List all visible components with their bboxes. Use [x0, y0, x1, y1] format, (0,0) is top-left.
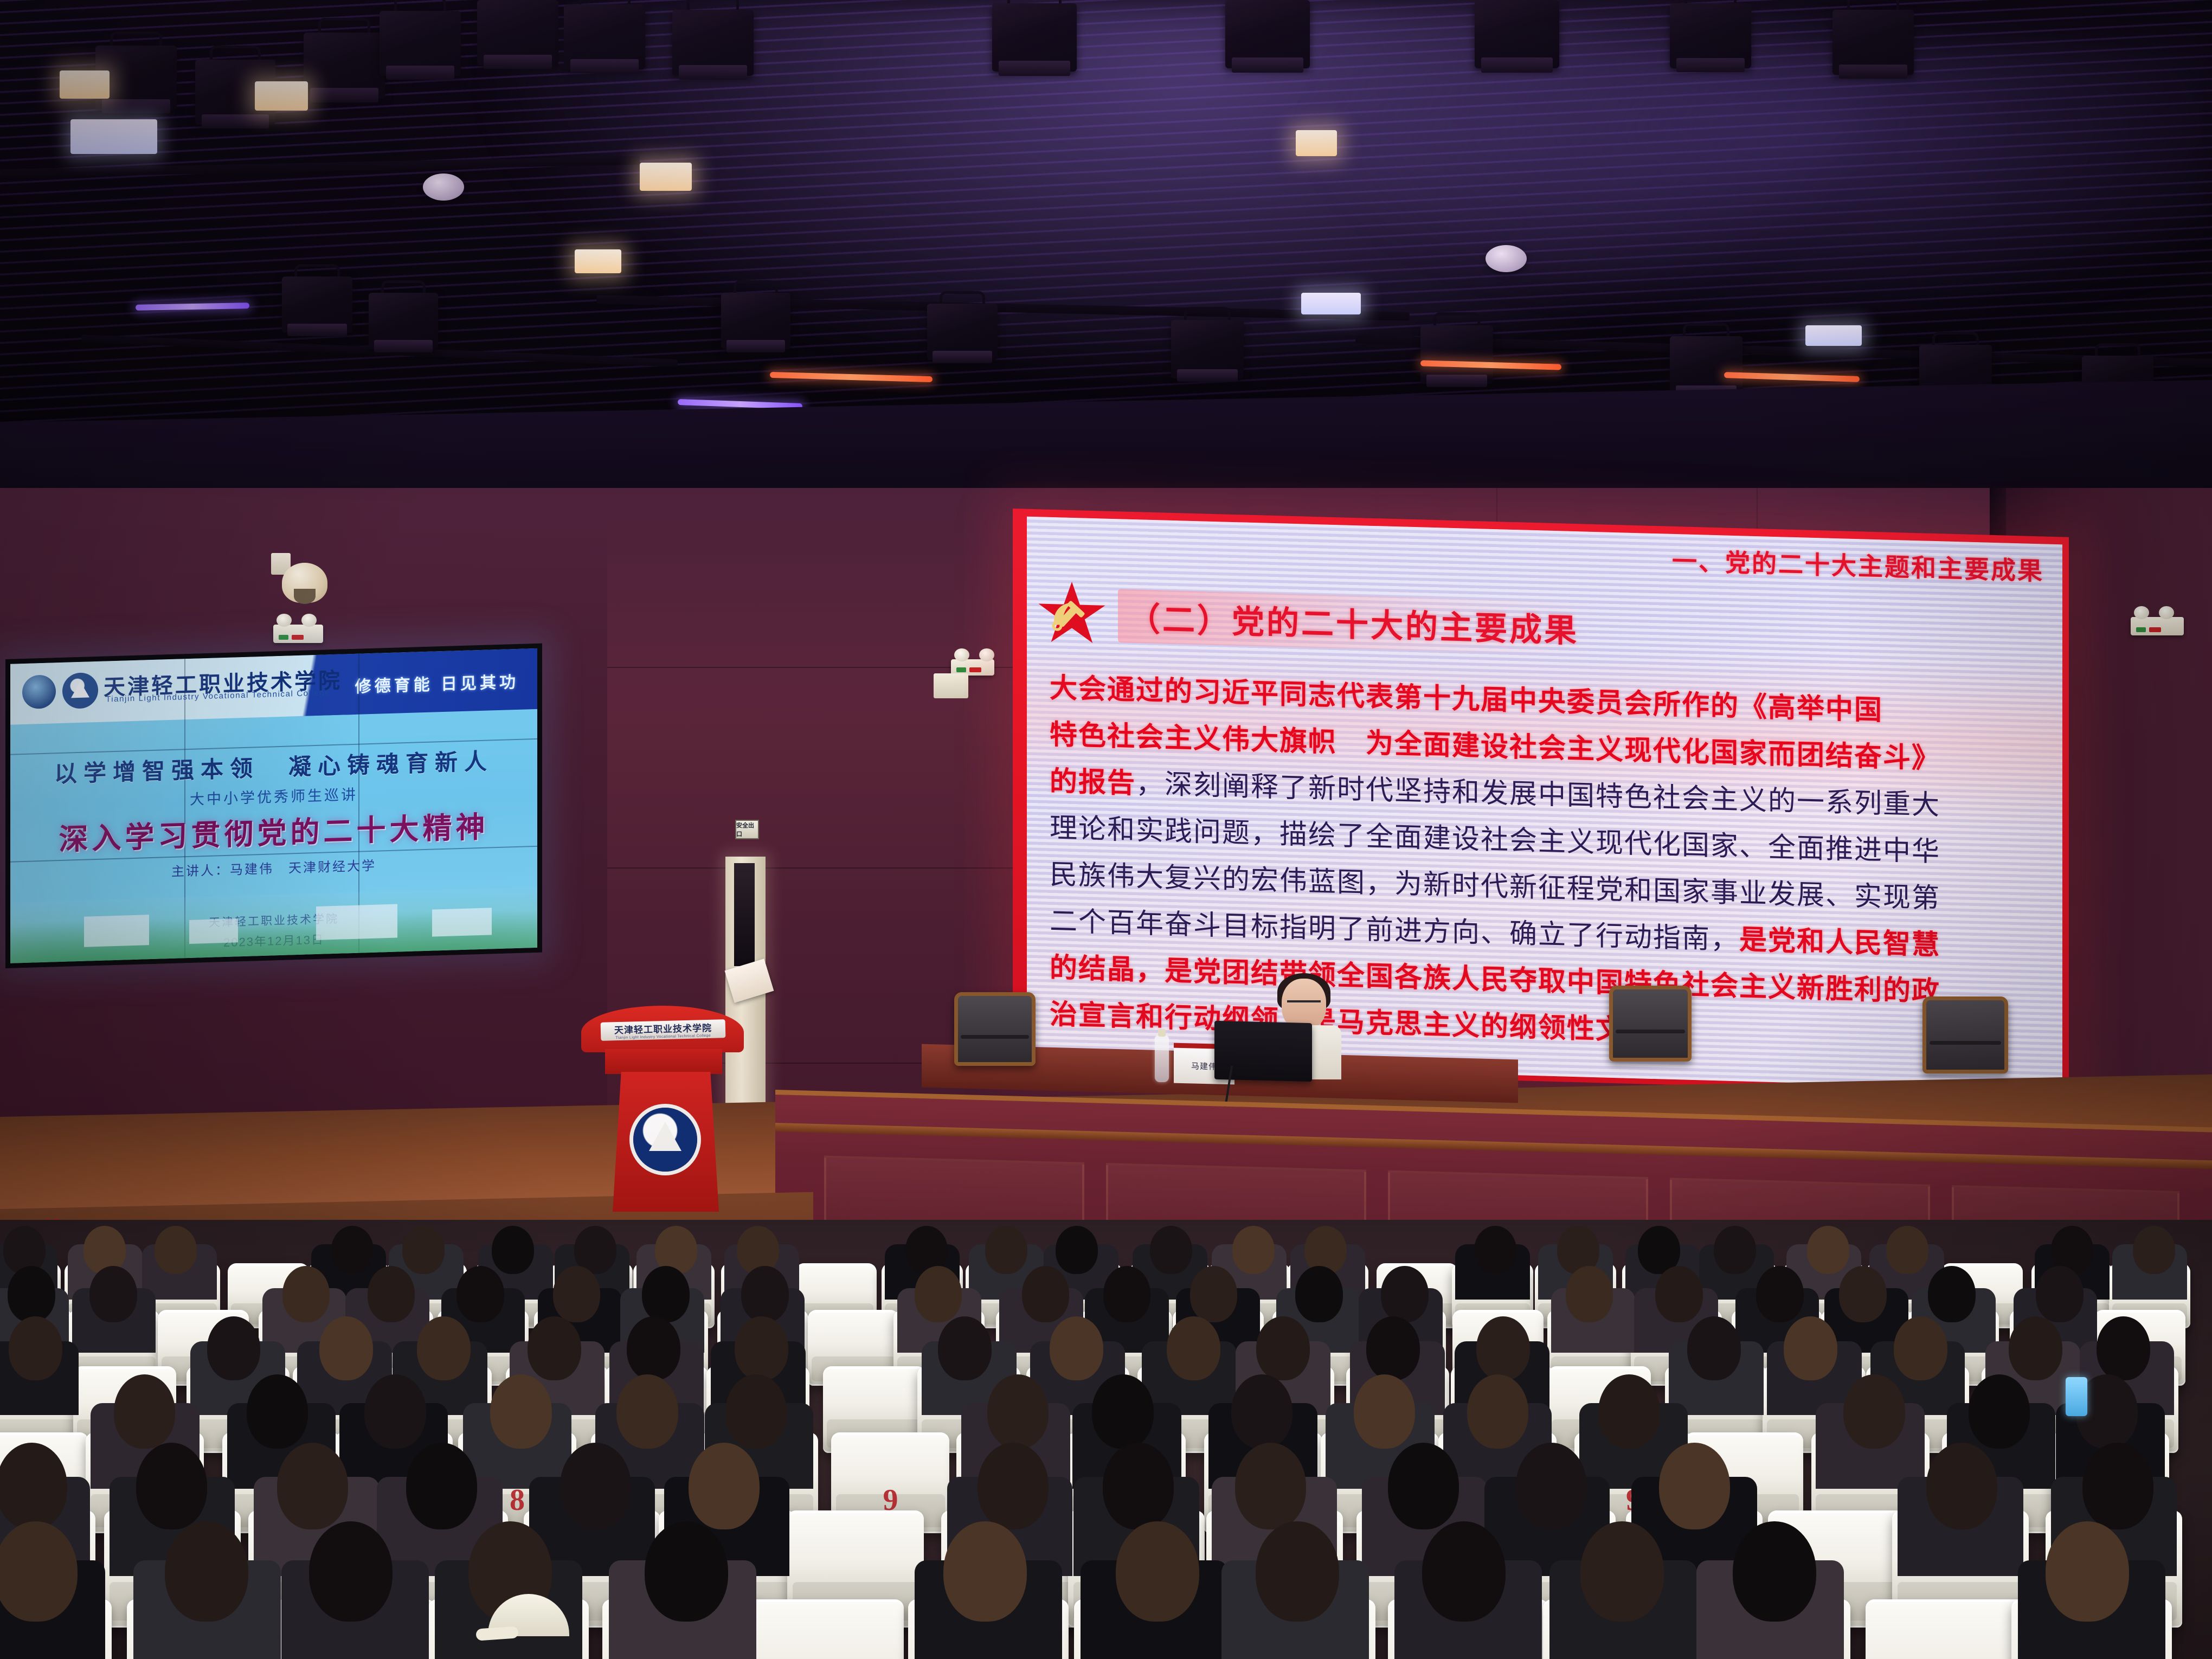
slide-title-row: （二）党的二十大的主要成果 [1038, 581, 1600, 661]
audience-person-head [406, 1443, 477, 1529]
audience-person-head [136, 1443, 207, 1529]
emergency-twin-lamp-icon [2131, 617, 2184, 635]
audience-person-head [616, 1374, 678, 1449]
audience-seat [743, 1599, 904, 1659]
audience-seating: 10898969 [0, 1220, 2212, 1659]
exit-sign: 安全出口 [735, 820, 759, 839]
main-led-screen[interactable]: 一、党的二十大主题和主要成果 [1013, 509, 2069, 1096]
audience-person-head [309, 1521, 393, 1622]
monitor-bezel: 天津轻工职业技术学院 Tianjin Light Industry Vocati… [5, 644, 542, 968]
recessed-downlight [1301, 293, 1361, 314]
audience-person-head [364, 1374, 426, 1449]
laptop[interactable] [1214, 1021, 1312, 1082]
audience-person-head [1566, 1266, 1613, 1322]
audience-person-head [1659, 1443, 1730, 1529]
audience-person-head [0, 1443, 67, 1529]
audience-person-head [735, 1316, 788, 1380]
audience-person-head [1807, 1226, 1849, 1274]
podium-nameplate: 天津轻工职业技术学院 Tianjin Light Industry Vocati… [601, 1019, 726, 1041]
recessed-downlight [1296, 130, 1337, 156]
audience-person-head [1839, 1266, 1886, 1322]
recessed-downlight [60, 70, 110, 99]
audience-person-head [402, 1226, 445, 1274]
ceiling-speaker [423, 173, 464, 201]
audience-person-head [915, 1266, 962, 1322]
audience-person-head [1103, 1443, 1174, 1529]
audience-person-head [1598, 1374, 1660, 1449]
stage-spotlight [927, 304, 998, 360]
audience-person-head [1926, 1443, 1997, 1529]
stage-spotlight [992, 3, 1077, 72]
audience-person-head [8, 1266, 55, 1322]
audience-person-head [1467, 1374, 1528, 1449]
audience-person-head [1354, 1374, 1415, 1449]
audience-person-head [627, 1316, 680, 1380]
monitor-campus-photo-strip [10, 887, 537, 963]
recessed-downlight [575, 249, 621, 273]
screen-red-frame: 一、党的二十大主题和主要成果 [1013, 509, 2069, 1096]
audience-person-head [490, 1374, 551, 1449]
audience-person-head [1381, 1266, 1428, 1322]
audience-person-head [1232, 1226, 1275, 1274]
ceiling-speaker [1486, 245, 1527, 272]
audience-person-head [331, 1226, 374, 1274]
monitor-motto: 修德育能 日见其功 [355, 668, 519, 697]
audience-person-head [1784, 1316, 1837, 1380]
audience-phone-screen [2066, 1377, 2087, 1416]
audience-person-head [2046, 1521, 2129, 1622]
audience-person-head [1756, 1266, 1803, 1322]
audience-person-head [2036, 1266, 2083, 1322]
auditorium-photo: 安全出口 一、党的二十大主题和主要成果 [0, 0, 2212, 1659]
audience-person-head [1687, 1316, 1741, 1380]
school-crest-icon [633, 1108, 697, 1172]
audience-person-head [560, 1443, 631, 1529]
recessed-downlight [255, 81, 308, 111]
slide-text-run: 治宣言和行动纲领，是马克思主义的纲领性文献 [1050, 999, 1653, 1046]
head-table-chair[interactable] [954, 992, 1036, 1066]
stage-spotlight [1670, 3, 1751, 68]
recessed-downlight [640, 163, 692, 191]
stage-spotlight [369, 293, 438, 349]
ceiling-purple-glow-right [1301, 43, 2212, 325]
audience-person-head [1476, 1316, 1530, 1380]
audience-person-head [1056, 1226, 1098, 1274]
audience-person-head [987, 1374, 1049, 1449]
emergency-twin-lamp-icon [273, 625, 323, 643]
audience-person-head [1388, 1443, 1459, 1529]
dome-surveillance-camera-icon [271, 553, 330, 605]
audience-person-head [1167, 1316, 1220, 1380]
audience-person-head [1231, 1374, 1293, 1449]
audience-person-head [938, 1316, 992, 1380]
audience-person-head [642, 1266, 689, 1322]
audience-person-head [0, 1521, 78, 1622]
party-hammer-sickle-star-icon [1038, 581, 1106, 647]
slide-title: （二）党的二十大的主要成果 [1128, 592, 1579, 652]
recessed-downlight [1805, 325, 1862, 346]
audience-person-head [1969, 1374, 2030, 1449]
stage-spotlight [721, 293, 790, 349]
slide-body-text: 大会通过的习近平同志代表第十九届中央委员会所作的《高举中国特色社会主义伟大旗帜 … [1050, 665, 2046, 1065]
audience-person-head [1366, 1316, 1420, 1380]
slide-section-header: 一、党的二十大主题和主要成果 [1672, 542, 2044, 588]
podium[interactable]: 天津轻工职业技术学院 Tianjin Light Industry Vocati… [591, 1006, 737, 1212]
audience-person-head [9, 1316, 62, 1380]
stage-spotlight [380, 11, 461, 76]
audience-person-head [2082, 1443, 2153, 1529]
audience-person-head [1714, 1226, 1756, 1274]
audience-person-head [725, 1374, 787, 1449]
slide-text-run: 的报告 [1050, 766, 1136, 799]
stage-spotlight [477, 0, 558, 65]
audience-person-head [417, 1316, 471, 1380]
audience-person-head [1894, 1316, 1947, 1380]
audience-person-head [492, 1226, 534, 1274]
audience-person-head [1022, 1266, 1069, 1322]
audience-person-head [1733, 1521, 1816, 1622]
stage-spotlight [1475, 0, 1559, 68]
audience-person-head [1190, 1266, 1237, 1322]
recessed-downlight [70, 119, 157, 154]
side-monitor[interactable]: 天津轻工职业技术学院 Tianjin Light Industry Vocati… [5, 644, 542, 968]
audience-person-head [1092, 1374, 1153, 1449]
audience-person-head [985, 1226, 1027, 1274]
water-bottle [1155, 1036, 1169, 1082]
audience-person-head [2133, 1226, 2175, 1274]
monitor-screen: 天津轻工职业技术学院 Tianjin Light Industry Vocati… [10, 648, 537, 963]
audience-person-head [155, 1226, 197, 1274]
audience-person-head [1843, 1374, 1905, 1449]
wall-control-plate[interactable] [934, 673, 968, 698]
screen-surface: 一、党的二十大主题和主要成果 [1027, 517, 2062, 1090]
audience-person-head [1886, 1226, 1928, 1274]
audience-person-head [368, 1266, 415, 1322]
audience-person-head [1422, 1521, 1506, 1622]
audience-person-head [2097, 1316, 2150, 1380]
stage-spotlight [1832, 10, 1914, 75]
audience-person-head [1580, 1521, 1664, 1622]
audience-person-head [1103, 1266, 1150, 1322]
audience-person-head [1516, 1443, 1587, 1529]
audience-person-head [645, 1521, 728, 1622]
audience-person-head [207, 1316, 261, 1380]
audience-person-head [319, 1316, 373, 1380]
audience-person-head [689, 1443, 760, 1529]
stage-spotlight [1225, 0, 1310, 68]
audience-person-head [528, 1316, 581, 1380]
audience-person-head [1295, 1266, 1342, 1322]
audience-person-head [114, 1374, 175, 1449]
audience-person-head [277, 1443, 348, 1529]
audience-person-head [165, 1521, 248, 1622]
stage-spotlight [304, 33, 385, 99]
audience-seat [1866, 1599, 2026, 1659]
audience-person-head [1256, 1521, 1339, 1622]
audience-person-head [1655, 1266, 1702, 1322]
audience-person-head [1256, 1316, 1310, 1380]
stage-spotlight [1420, 325, 1493, 384]
audience-person-head [2009, 1316, 2062, 1380]
audience-person-head [247, 1374, 308, 1449]
door-gap [734, 863, 755, 966]
audience-person-head [1928, 1266, 1975, 1322]
stage-spotlight [1171, 320, 1244, 378]
audience-person-head [553, 1266, 600, 1322]
hammer-sickle-glyph [1051, 599, 1091, 633]
slide-title-plate: （二）党的二十大的主要成果 [1118, 589, 1600, 655]
audience-person-head [741, 1266, 788, 1322]
head-table-chair[interactable] [1922, 996, 2008, 1073]
presentation-slide: 一、党的二十大主题和主要成果 [1027, 517, 2062, 1090]
audience-person-head [943, 1521, 1027, 1622]
slide-text-run: 是党和人民智慧 [1739, 924, 1940, 960]
audience-person-head [1150, 1226, 1192, 1274]
stage-spotlight [672, 10, 754, 76]
stage-spotlight [1670, 336, 1742, 395]
stage-spotlight [282, 276, 352, 333]
audience-person-head [89, 1266, 137, 1322]
glasses-icon [1287, 1000, 1321, 1008]
audience-person-head [282, 1266, 330, 1322]
audience-person-head [456, 1266, 504, 1322]
audience-person-head [1050, 1316, 1103, 1380]
audience-person-head [1235, 1443, 1306, 1529]
audience-person-head [978, 1443, 1049, 1529]
head-table-chair[interactable] [1609, 986, 1692, 1062]
audience-person-head [1116, 1521, 1199, 1622]
audience-person-head [1474, 1226, 1516, 1274]
stage-spotlight [564, 4, 645, 69]
